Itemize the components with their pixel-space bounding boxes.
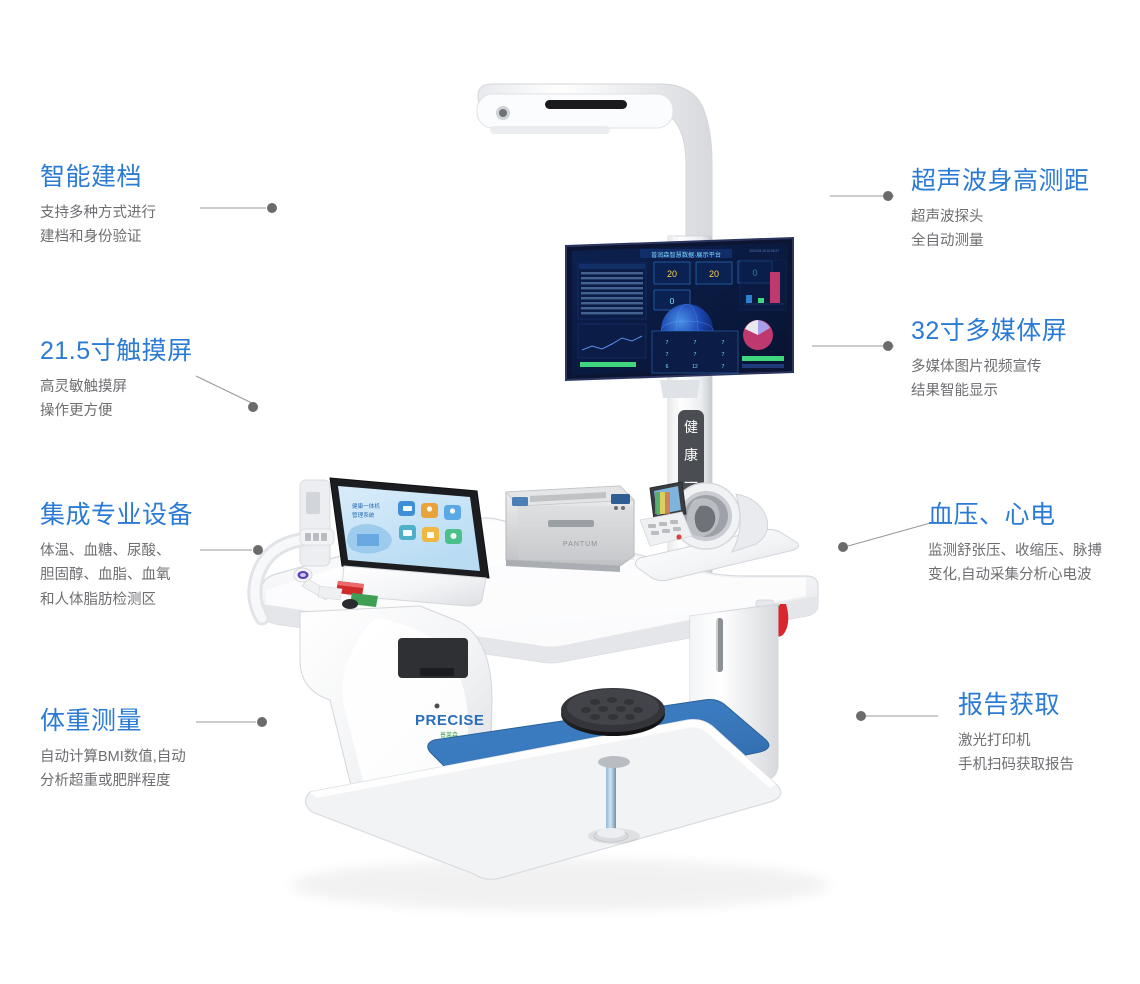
svg-text:7: 7 — [694, 352, 697, 358]
svg-text:7: 7 — [722, 352, 725, 358]
dashboard-bar-chart — [740, 260, 786, 310]
desc-line: 操作更方便 — [40, 399, 193, 424]
callout-smart-filing: 智能建档 支持多种方式进行 建档和身份验证 — [40, 164, 156, 250]
callout-title-ultrasonic: 超声波身高测距 — [911, 168, 1090, 196]
dashboard-line-chart — [578, 324, 646, 358]
desc-line: 结果智能显示 — [911, 379, 1067, 404]
svg-text:7: 7 — [722, 364, 725, 370]
desc-line: 建档和身份验证 — [40, 225, 156, 250]
callout-title-weight: 体重测量 — [40, 708, 186, 736]
kpi-value-1: 20 — [667, 269, 677, 279]
bar-tall — [770, 272, 780, 303]
column-label-char1: 健 — [684, 419, 698, 435]
desc-line: 分析超重或肥胖程度 — [40, 769, 186, 794]
callout-desc-weight: 自动计算BMI数值,自动 分析超重或肥胖程度 — [40, 745, 186, 795]
svg-text:7: 7 — [694, 340, 697, 346]
callout-multimedia-screen: 32寸多媒体屏 多媒体图片视频宣传 结果智能显示 — [911, 318, 1067, 404]
dashboard-list-panel — [578, 263, 646, 319]
desc-line: 自动计算BMI数值,自动 — [40, 745, 186, 770]
callout-desc-smart-filing: 支持多种方式进行 建档和身份验证 — [40, 201, 156, 251]
kpi-value-2: 20 — [709, 269, 719, 279]
callout-desc-bp-ecg: 监测舒张压、收缩压、脉搏 变化,自动采集分析心电波 — [928, 539, 1102, 589]
body-fat-sensor — [342, 599, 358, 609]
svg-text:12: 12 — [692, 364, 698, 370]
laser-printer: PANTUM — [506, 486, 634, 572]
callout-title-bp-ecg: 血压、心电 — [928, 502, 1102, 530]
callout-weight: 体重测量 自动计算BMI数值,自动 分析超重或肥胖程度 — [40, 708, 186, 794]
dashboard-pie-chart — [743, 320, 773, 350]
callout-desc-integrated: 体温、血糖、尿酸、 胆固醇、血脂、血氧 和人体脂肪检测区 — [40, 539, 193, 614]
infographic-stage: 健 康 一 体 普润森智慧数据·展示平台 2023-05-18 10:08:27 — [0, 0, 1140, 984]
health-kiosk-illustration: 健 康 一 体 普润森智慧数据·展示平台 2023-05-18 10:08:27 — [0, 0, 1140, 984]
svg-text:7: 7 — [666, 340, 669, 346]
desc-line: 高灵敏触摸屏 — [40, 375, 193, 400]
progress-bar-right — [742, 356, 784, 361]
ultrasonic-height-sensor — [477, 84, 712, 242]
floor-shadow — [290, 859, 830, 911]
callout-integrated-devices: 集成专业设备 体温、血糖、尿酸、 胆固醇、血脂、血氧 和人体脂肪检测区 — [40, 502, 193, 613]
desc-line: 超声波探头 — [911, 205, 1090, 230]
progress-bar-left — [580, 362, 636, 367]
callout-desc-report: 激光打印机 手机扫码获取报告 — [958, 729, 1074, 779]
brand-logo-text: PRECISE — [415, 712, 484, 729]
callout-report: 报告获取 激光打印机 手机扫码获取报告 — [958, 692, 1074, 778]
callout-title-touchscreen: 21.5寸触摸屏 — [40, 338, 193, 366]
printer-lcd — [512, 497, 528, 506]
dashboard-metric-grid: 777 777 6127 — [652, 331, 738, 373]
desc-line: 监测舒张压、收缩压、脉搏 — [928, 539, 1102, 564]
desc-line: 变化,自动采集分析心电波 — [928, 563, 1102, 588]
tablet-heading-2: 管理系统 — [352, 511, 375, 519]
multimedia-monitor: 普润森智慧数据·展示平台 2023-05-18 10:08:27 20 — [566, 238, 793, 398]
blood-pressure-monitor — [635, 482, 798, 581]
callout-bp-ecg: 血压、心电 监测舒张压、收缩压、脉搏 变化,自动采集分析心电波 — [928, 502, 1102, 588]
printer-brand-label: PANTUM — [563, 541, 598, 548]
svg-text:7: 7 — [722, 340, 725, 346]
callout-title-smart-filing: 智能建档 — [40, 164, 156, 192]
svg-text:6: 6 — [666, 364, 669, 370]
desc-line: 全自动测量 — [911, 229, 1090, 254]
dashboard-timestamp: 2023-05-18 10:08:27 — [749, 249, 779, 253]
kpi-value-4: 0 — [670, 296, 675, 306]
callout-ultrasonic-height: 超声波身高测距 超声波探头 全自动测量 — [911, 168, 1090, 254]
arm-cuff — [672, 483, 768, 552]
stool-pole — [606, 762, 616, 834]
tablet-heading-1: 健康一体机 — [352, 502, 380, 510]
desc-line: 和人体脂肪检测区 — [40, 588, 193, 613]
cabinet-indicator — [435, 704, 440, 709]
desc-line: 多媒体图片视频宣传 — [911, 355, 1067, 380]
dashboard-title: 普润森智慧数据·展示平台 — [651, 251, 721, 259]
printer-lcd-right — [611, 494, 630, 504]
callout-title-multimedia: 32寸多媒体屏 — [911, 318, 1067, 346]
desc-line: 体温、血糖、尿酸、 — [40, 539, 193, 564]
desc-line: 激光打印机 — [958, 729, 1074, 754]
desc-line: 支持多种方式进行 — [40, 201, 156, 226]
callout-desc-multimedia: 多媒体图片视频宣传 结果智能显示 — [911, 355, 1067, 405]
leader-touchscreen — [196, 376, 258, 406]
callout-desc-touchscreen: 高灵敏触摸屏 操作更方便 — [40, 375, 193, 425]
desc-line: 手机扫码获取报告 — [958, 753, 1074, 778]
callout-touchscreen: 21.5寸触摸屏 高灵敏触摸屏 操作更方便 — [40, 338, 193, 424]
callout-title-report: 报告获取 — [958, 692, 1074, 720]
callout-desc-ultrasonic: 超声波探头 全自动测量 — [911, 205, 1090, 255]
desc-line: 胆固醇、血脂、血氧 — [40, 563, 193, 588]
leader-bp — [848, 522, 934, 546]
bp-start-button[interactable] — [676, 534, 681, 539]
sensor-slot — [545, 100, 627, 109]
column-label-char2: 康 — [684, 447, 698, 463]
callout-title-integrated: 集成专业设备 — [40, 502, 193, 530]
svg-text:7: 7 — [666, 352, 669, 358]
